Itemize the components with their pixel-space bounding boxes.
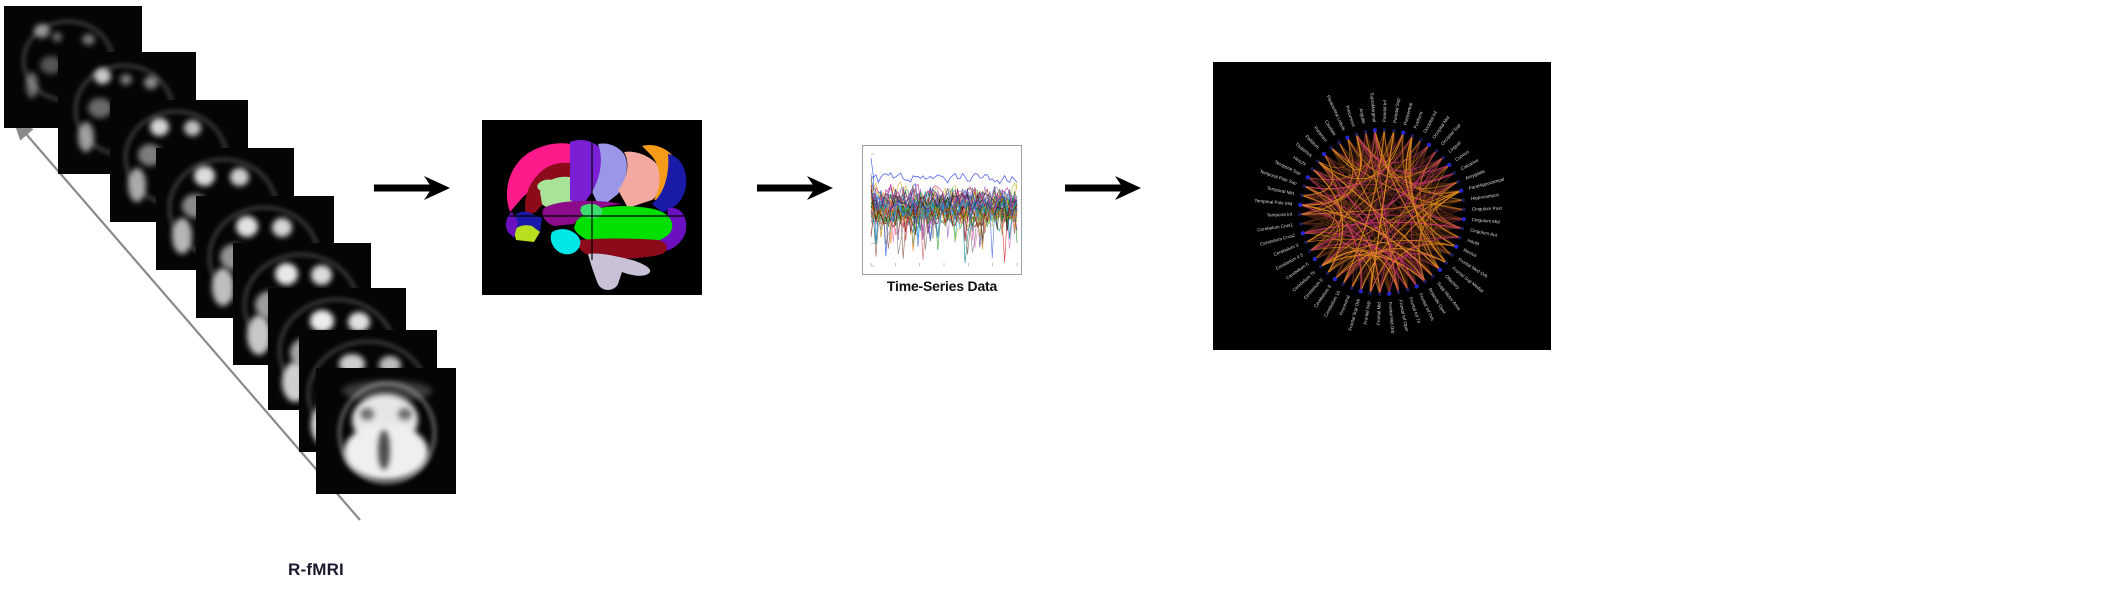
arrow-parcellation-to-timeseries-icon [755,172,837,204]
rfmri-slice-stack: R-fMRI [0,0,530,600]
connectogram-node[interactable] [1458,236,1461,239]
connectogram-node-label: Parietal Inf [1382,99,1388,122]
timeseries-label: Time-Series Data [862,278,1022,294]
connectogram-node[interactable] [1299,213,1302,216]
connectogram-node[interactable] [1462,199,1465,202]
fmri-slice [316,368,456,494]
connectogram-node[interactable] [1313,257,1317,261]
figure-canvas: R-fMRI [0,0,2120,600]
connectogram-node[interactable] [1387,292,1391,296]
connectogram-node[interactable] [1424,280,1427,283]
circular-connectogram-icon: Paracentral LobulePrecuneusAngularSupraM… [1213,62,1551,350]
connectogram-node-label: Cingulum Post [1472,206,1503,212]
connectogram-node[interactable] [1364,130,1367,133]
connectogram-node[interactable] [1454,245,1458,249]
line-chart-icon [863,146,1021,274]
timeseries-plot-box [862,145,1022,275]
connectogram-node[interactable] [1322,152,1326,156]
connectogram-node[interactable] [1311,167,1314,170]
connectogram-node[interactable] [1457,180,1460,183]
connectogram-node[interactable] [1350,287,1353,290]
connectogram-node[interactable] [1397,291,1400,294]
connectogram-node[interactable] [1333,277,1337,281]
connectogram-node[interactable] [1308,249,1311,252]
connectogram-node[interactable] [1447,163,1451,167]
connectogram-node[interactable] [1337,141,1340,144]
connectogram-node[interactable] [1411,134,1414,137]
connectogram-node[interactable] [1419,138,1422,141]
connectogram-node[interactable] [1461,227,1464,230]
connectogram-node[interactable] [1462,217,1466,221]
connectogram-node[interactable] [1453,172,1456,175]
connectogram-node[interactable] [1392,129,1395,132]
connectogram-node[interactable] [1342,283,1345,286]
connectogram-node[interactable] [1345,136,1349,140]
connectogram-node-label: Frontal Mid [1376,301,1382,325]
connectogram-node[interactable] [1300,194,1303,197]
connectogram-node[interactable] [1435,149,1438,152]
connectogram-node[interactable] [1459,189,1463,193]
connectogram-node[interactable] [1450,254,1453,257]
connectogram-node[interactable] [1355,133,1358,136]
arrow-timeseries-to-connectogram-icon [1063,172,1145,204]
connectogram-node[interactable] [1431,275,1434,278]
connectogram-node[interactable] [1442,156,1445,159]
connectogram-node[interactable] [1406,288,1409,291]
connectogram-node[interactable] [1438,268,1442,272]
connectogram-node[interactable] [1401,131,1405,135]
connectogram-node[interactable] [1383,129,1386,132]
rfmri-label: R-fMRI [236,560,396,580]
connectogram-node-label: Temporal Inf [1267,212,1293,218]
connectogram-node[interactable] [1330,146,1333,149]
connectogram-node[interactable] [1462,208,1465,211]
connectogram-node[interactable] [1378,292,1381,295]
connectogram-node[interactable] [1303,185,1306,188]
connectogram-node[interactable] [1373,128,1377,132]
connectogram-node[interactable] [1326,272,1329,275]
connectogram-node[interactable] [1319,265,1322,268]
connectogram-view: Paracentral LobulePrecuneusAngularSupraM… [1213,62,1551,350]
connectogram-node[interactable] [1306,175,1310,179]
timeseries-plot [862,145,1022,275]
brain-parcellation-icon [482,120,702,295]
connectogram-node[interactable] [1445,261,1448,264]
connectogram-node[interactable] [1369,292,1372,295]
connectogram-node[interactable] [1316,160,1319,163]
connectogram-node[interactable] [1304,241,1307,244]
connectogram-node[interactable] [1298,203,1302,207]
connectogram-node[interactable] [1301,231,1305,235]
connectogram-node[interactable] [1427,143,1431,147]
connectogram-node[interactable] [1359,289,1363,293]
brain-parcellation-view [482,120,702,295]
connectogram-node[interactable] [1415,284,1419,288]
connectogram-node[interactable] [1299,222,1302,225]
arrow-fmri-to-parcellation-icon [372,172,454,204]
